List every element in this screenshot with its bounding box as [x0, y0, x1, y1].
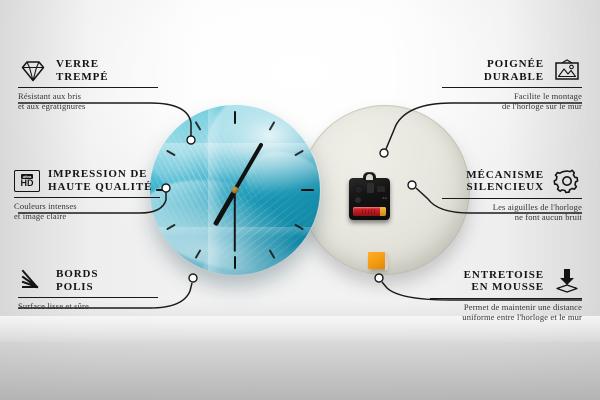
callout-subtitle: Les aiguilles de l'horloge ne font aucun… [442, 202, 582, 222]
callout-title: BORDS POLIS [56, 268, 98, 293]
callout-rule [442, 87, 582, 88]
callout-subtitle: Résistant aux bris et aux égratignures [18, 91, 158, 111]
connector-dot-verre-trempe [187, 136, 195, 144]
callout-subtitle: Permet de maintenir une distance uniform… [430, 302, 582, 322]
callout-rule [442, 198, 582, 199]
callout-subtitle: Surface lisse et sûre [18, 301, 158, 311]
callout-entretoise-en-mousse: ENTRETOISE EN MOUSSE Permet de maintenir… [430, 268, 582, 322]
callout-rule [430, 298, 582, 299]
callout-header: MÉCANISME SILENCIEUX [442, 168, 582, 194]
callout-title: VERRE TREMPÉ [56, 58, 108, 83]
callout-verre-trempe: VERRE TREMPÉ Résistant aux bris et aux é… [18, 58, 158, 111]
callout-mecanisme-silencieux: MÉCANISME SILENCIEUX Les aiguilles de l'… [442, 168, 582, 222]
ultra-hd-label: HD [21, 179, 34, 188]
callout-title: ENTRETOISE EN MOUSSE [464, 269, 544, 294]
callout-rule [18, 87, 158, 88]
callout-header: BORDS POLIS [18, 268, 158, 293]
connector-dot-entretoise [375, 274, 383, 282]
callout-subtitle: Couleurs intenses et image claire [14, 201, 160, 221]
ultra-hd-icon: ultra HD [14, 170, 40, 192]
gear-icon [552, 168, 582, 194]
callout-subtitle: Facilite le montage de l'horloge sur le … [442, 91, 582, 111]
polished-edges-icon [18, 269, 48, 293]
callout-rule [14, 197, 160, 198]
callout-header: ENTRETOISE EN MOUSSE [430, 268, 582, 294]
callout-bords-polis: BORDS POLIS Surface lisse et sûre [18, 268, 158, 311]
callout-impression-haute-qualite: ultra HD IMPRESSION DE HAUTE QUALITÉ Cou… [14, 168, 160, 221]
callout-poignee-durable: POIGNÉE DURABLE Facilite le montage de l… [442, 58, 582, 111]
callout-header: VERRE TREMPÉ [18, 58, 158, 83]
connector-dot-mecanisme [408, 181, 416, 189]
infographic-canvas: AA [0, 0, 600, 400]
connector-dot-impression [162, 184, 170, 192]
callout-title: MÉCANISME SILENCIEUX [466, 169, 544, 194]
callout-title: IMPRESSION DE HAUTE QUALITÉ [48, 168, 152, 193]
callout-rule [18, 297, 158, 298]
callout-header: POIGNÉE DURABLE [442, 58, 582, 83]
connector-dot-poignee [380, 149, 388, 157]
diamond-icon [18, 59, 48, 83]
picture-frame-hanger-icon [552, 59, 582, 83]
connector-dot-bords-polis [189, 274, 197, 282]
stack-down-arrow-icon [552, 268, 582, 294]
callout-title: POIGNÉE DURABLE [484, 58, 544, 83]
callout-header: ultra HD IMPRESSION DE HAUTE QUALITÉ [14, 168, 160, 193]
